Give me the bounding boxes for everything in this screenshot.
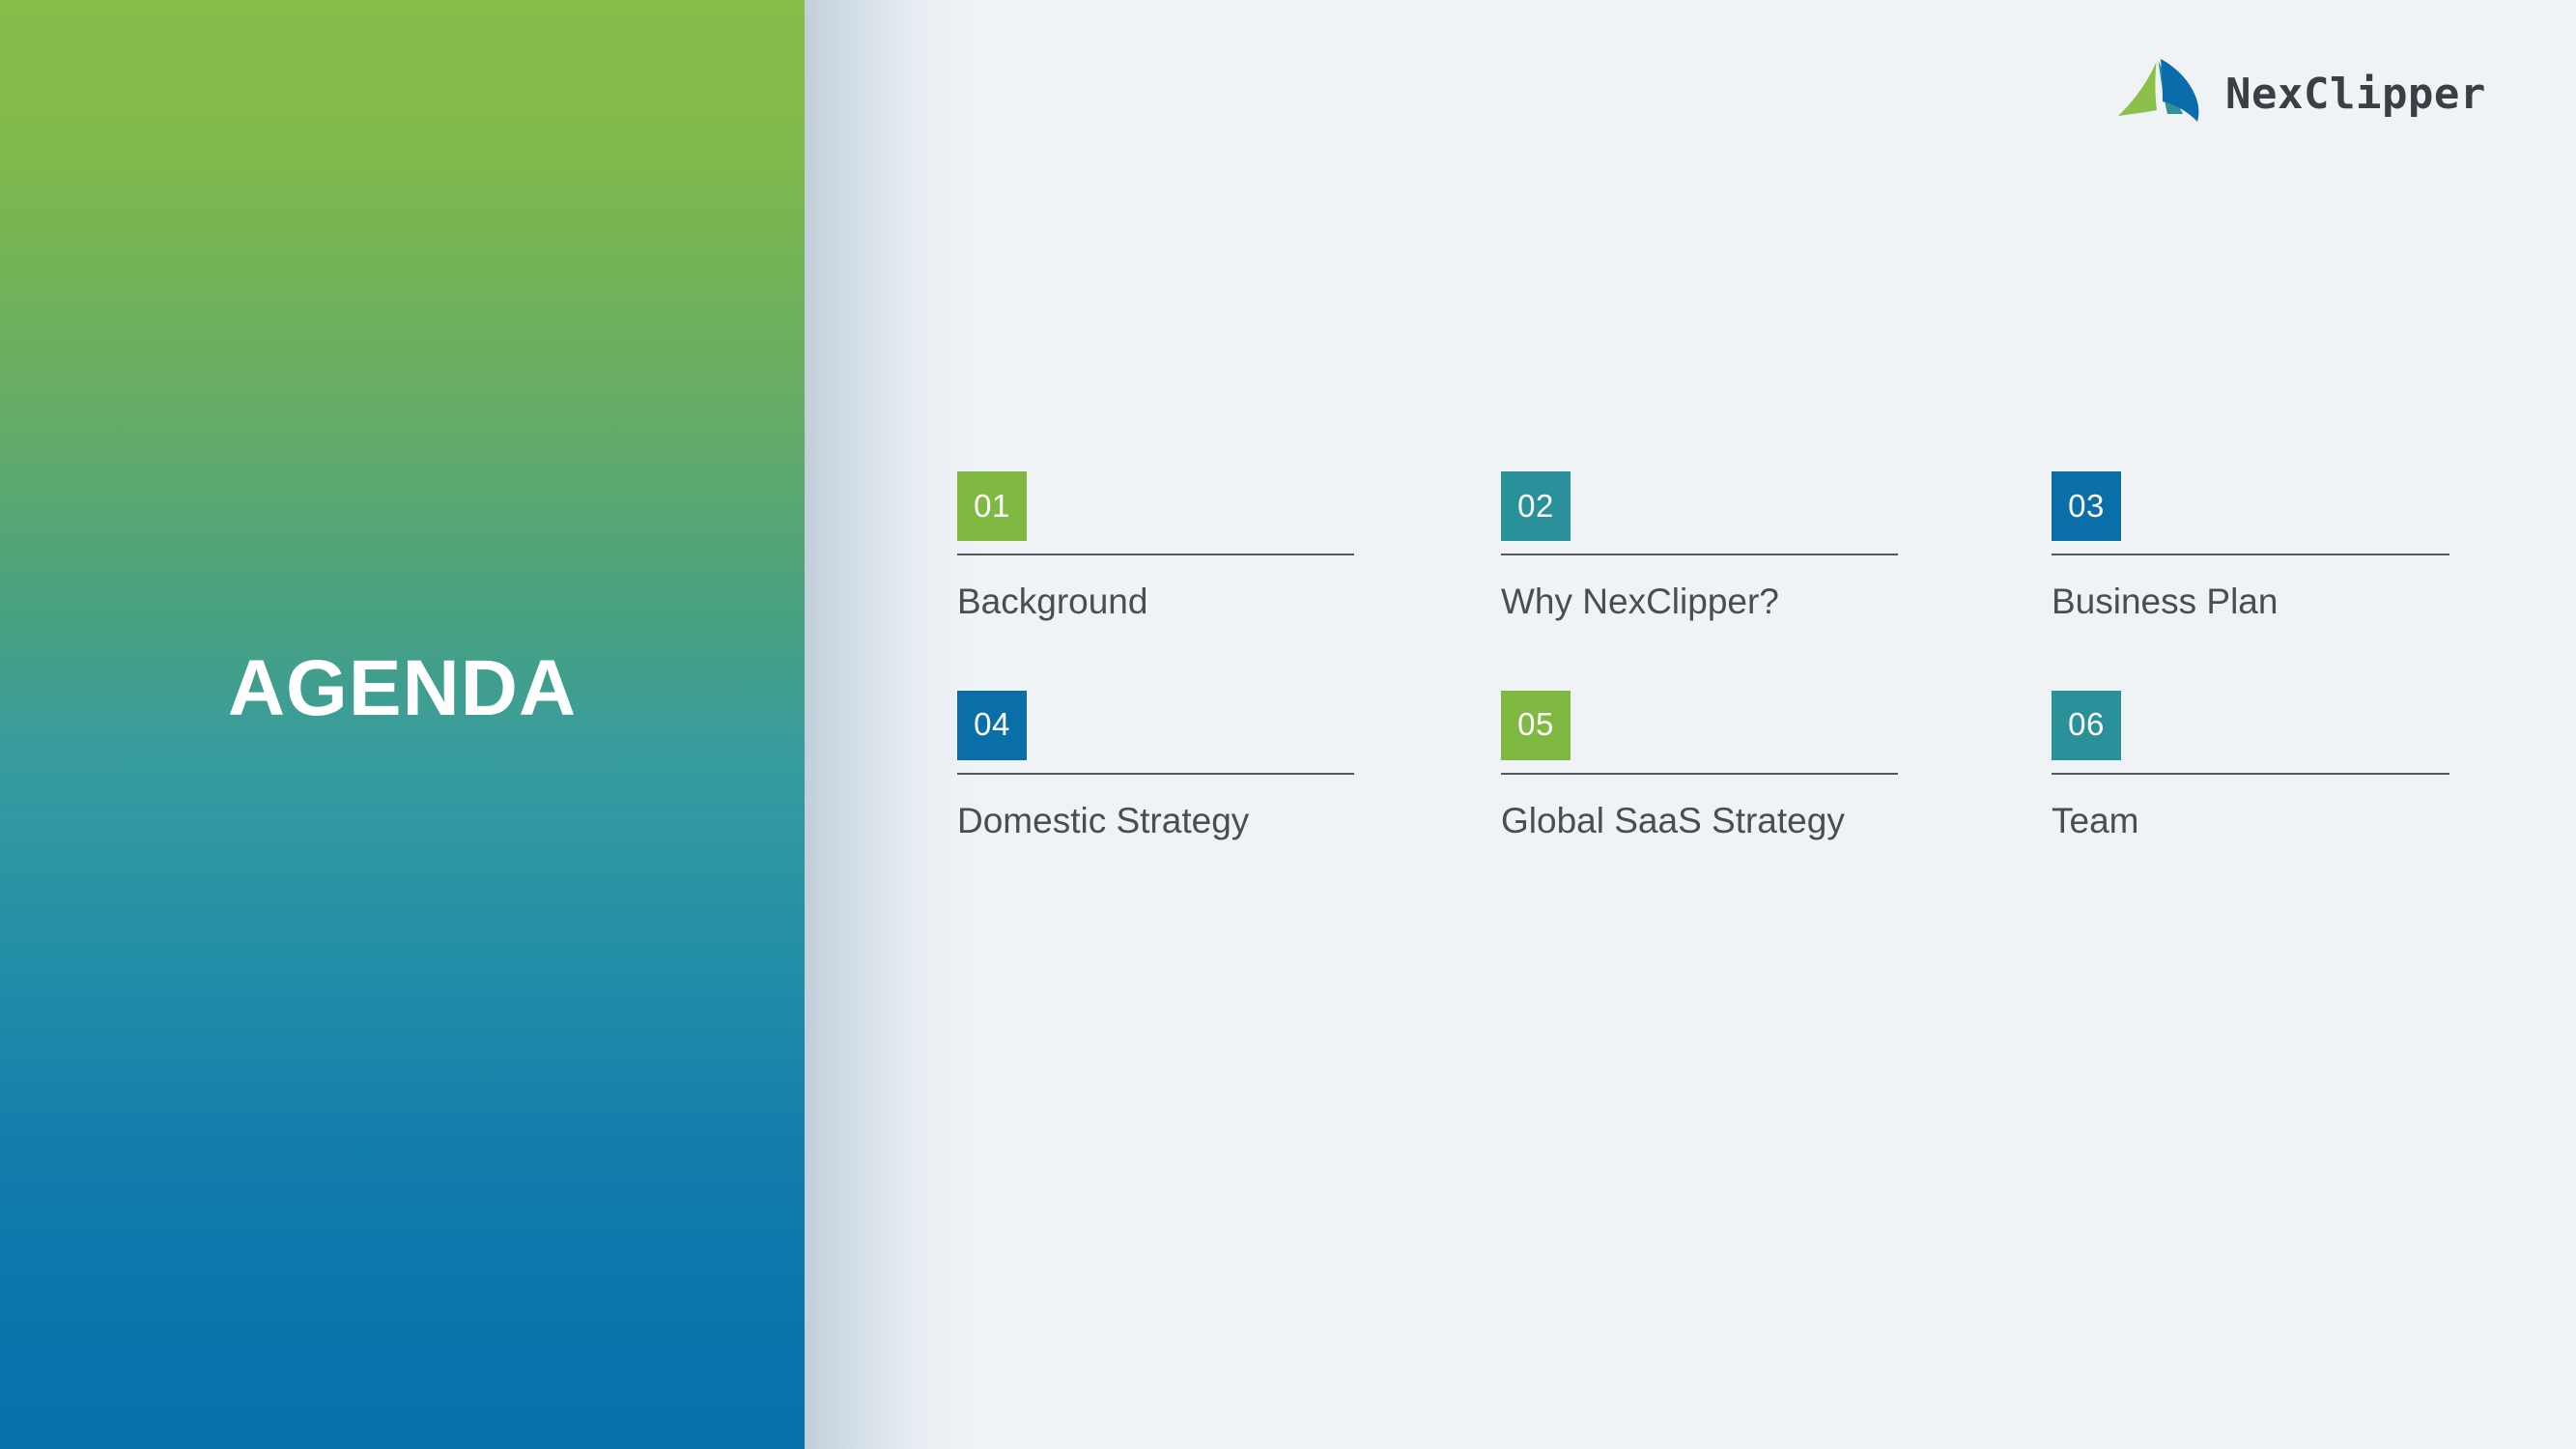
agenda-item-label: Global SaaS Strategy xyxy=(1501,801,1898,842)
row-gap xyxy=(2052,623,2449,691)
agenda-slide: AGENDA NexClipper 01 Background 02 Why N… xyxy=(0,0,2576,1449)
agenda-item-01[interactable]: 01 Background xyxy=(957,471,1354,623)
agenda-number-badge: 06 xyxy=(2052,691,2121,760)
agenda-item-02[interactable]: 02 Why NexClipper? xyxy=(1501,471,1898,623)
agenda-item-label: Background xyxy=(957,582,1354,623)
agenda-item-06[interactable]: 06 Team xyxy=(2052,691,2449,842)
grid-gap xyxy=(1898,471,2052,623)
agenda-number-badge: 05 xyxy=(1501,691,1571,760)
row-gap xyxy=(957,623,1354,691)
agenda-number-badge: 04 xyxy=(957,691,1027,760)
row-gap xyxy=(1354,623,1501,691)
brand-logo: NexClipper xyxy=(2117,60,2486,128)
agenda-number-badge: 03 xyxy=(2052,471,2121,541)
agenda-divider xyxy=(2052,554,2449,555)
row-gap xyxy=(1501,623,1898,691)
brand-name: NexClipper xyxy=(2225,70,2486,119)
agenda-list: 01 Background 02 Why NexClipper? 03 Busi… xyxy=(957,471,2449,841)
agenda-item-label: Team xyxy=(2052,801,2449,842)
row-gap xyxy=(1898,623,2052,691)
grid-gap xyxy=(1354,691,1501,842)
agenda-item-04[interactable]: 04 Domestic Strategy xyxy=(957,691,1354,842)
agenda-divider xyxy=(957,773,1354,775)
agenda-divider xyxy=(2052,773,2449,775)
agenda-item-label: Business Plan xyxy=(2052,582,2449,623)
agenda-divider xyxy=(1501,773,1898,775)
grid-gap xyxy=(1898,691,2052,842)
page-title: AGENDA xyxy=(0,649,805,728)
agenda-divider xyxy=(1501,554,1898,555)
agenda-number-badge: 01 xyxy=(957,471,1027,541)
grid-gap xyxy=(1354,471,1501,623)
agenda-item-label: Domestic Strategy xyxy=(957,801,1354,842)
agenda-number-badge: 02 xyxy=(1501,471,1571,541)
agenda-item-03[interactable]: 03 Business Plan xyxy=(2052,471,2449,623)
agenda-item-05[interactable]: 05 Global SaaS Strategy xyxy=(1501,691,1898,842)
agenda-divider xyxy=(957,554,1354,555)
agenda-item-label: Why NexClipper? xyxy=(1501,582,1898,623)
clipper-sail-logo-icon xyxy=(2117,54,2218,133)
